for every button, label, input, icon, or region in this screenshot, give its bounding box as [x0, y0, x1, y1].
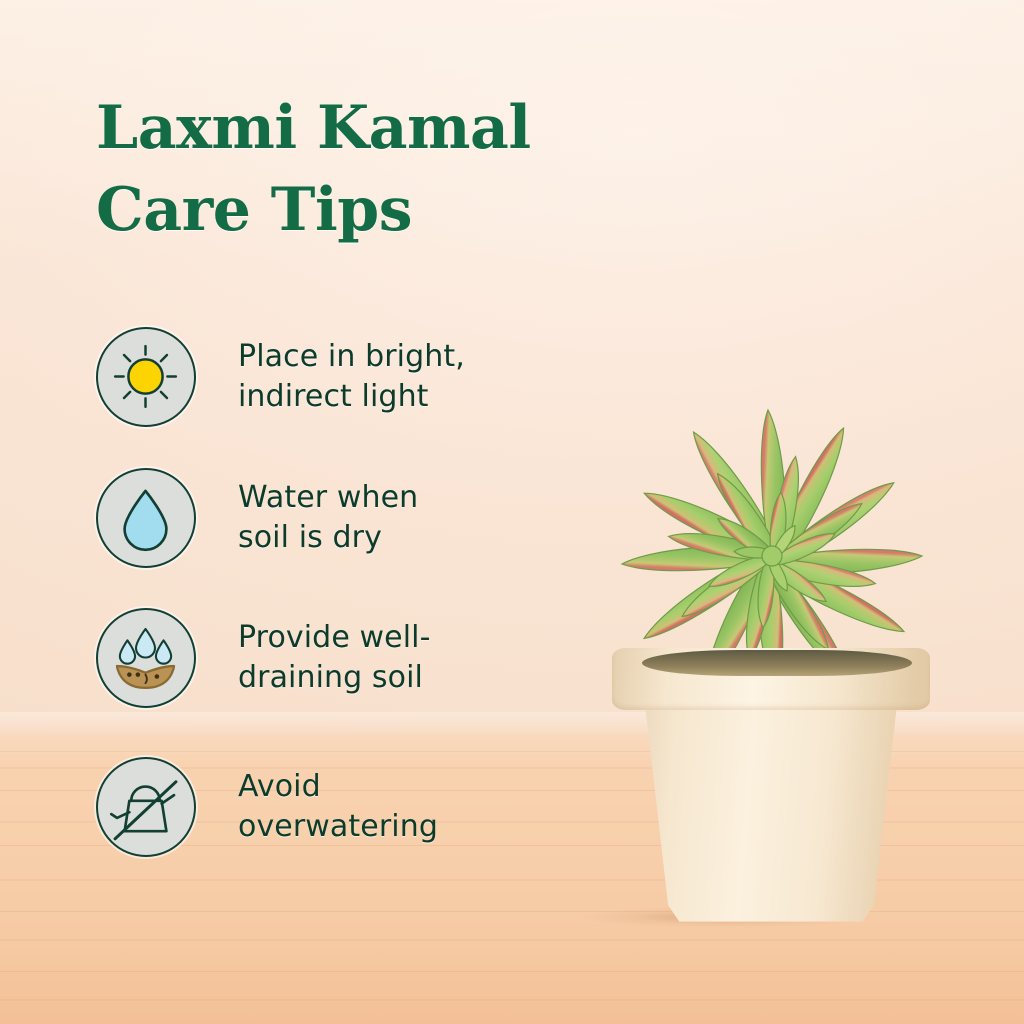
tip-item-soil: Provide well- draining soil: [96, 608, 526, 708]
pot-soil-opening: [642, 650, 912, 676]
tip-text-light: Place in bright, indirect light: [238, 337, 465, 417]
sun-icon: [96, 327, 196, 427]
pot-body: [632, 688, 910, 924]
water-drop-icon: [96, 468, 196, 568]
title-line-1: Laxmi Kamal: [96, 88, 656, 170]
tip-water-line-1: Water when: [238, 478, 418, 518]
plant-pot: [606, 642, 936, 924]
tip-text-water: Water when soil is dry: [238, 478, 418, 558]
title-line-2: Care Tips: [96, 170, 656, 252]
tip-overwatering-line-2: overwatering: [238, 807, 438, 847]
tip-light-line-1: Place in bright,: [238, 337, 465, 377]
tip-soil-line-2: draining soil: [238, 658, 431, 698]
draining-soil-icon: [96, 608, 196, 708]
tip-water-line-2: soil is dry: [238, 518, 418, 558]
page-title: Laxmi Kamal Care Tips: [96, 88, 656, 251]
tip-text-overwatering: Avoid overwatering: [238, 767, 438, 847]
tip-item-light: Place in bright, indirect light: [96, 327, 526, 427]
care-tips-graphic: Laxmi Kamal Care Tips Place in brigh: [0, 0, 1024, 1024]
tip-light-line-2: indirect light: [238, 377, 465, 417]
pot-rim: [612, 648, 930, 710]
tip-text-soil: Provide well- draining soil: [238, 618, 431, 698]
tip-soil-line-1: Provide well-: [238, 618, 431, 658]
tip-overwatering-line-1: Avoid: [238, 767, 438, 807]
tip-item-overwatering: Avoid overwatering: [96, 757, 526, 857]
plant-photo: [520, 330, 1024, 950]
no-watering-can-icon: [96, 757, 196, 857]
tip-item-water: Water when soil is dry: [96, 468, 526, 568]
